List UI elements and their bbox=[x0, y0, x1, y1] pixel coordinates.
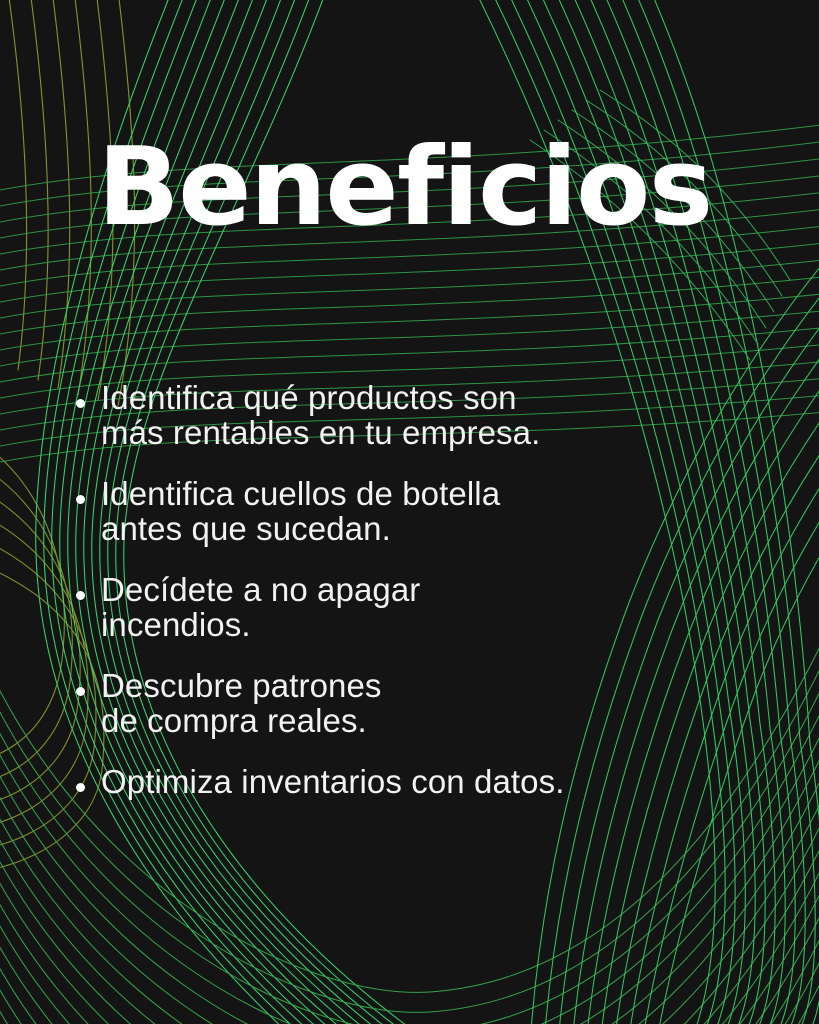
list-item-text: Descubre patrones de compra reales. bbox=[101, 668, 382, 738]
list-item-text: Identifica cuellos de botella antes que … bbox=[101, 476, 500, 546]
list-item: Identifica qué productos son más rentabl… bbox=[76, 380, 726, 450]
bullet-dot-icon bbox=[76, 783, 85, 792]
list-item: Descubre patrones de compra reales. bbox=[76, 668, 726, 738]
list-item-text: Identifica qué productos son más rentabl… bbox=[101, 380, 540, 450]
bullet-dot-icon bbox=[76, 687, 85, 696]
list-item-text: Optimiza inventarios con datos. bbox=[101, 764, 565, 799]
bullet-dot-icon bbox=[76, 495, 85, 504]
bullet-dot-icon bbox=[76, 399, 85, 408]
benefits-list: Identifica qué productos son más rentabl… bbox=[76, 380, 726, 825]
bullet-dot-icon bbox=[76, 591, 85, 600]
page-title: Beneficios bbox=[0, 131, 819, 245]
list-item: Decídete a no apagar incendios. bbox=[76, 572, 726, 642]
list-item-text: Decídete a no apagar incendios. bbox=[101, 572, 420, 642]
list-item: Optimiza inventarios con datos. bbox=[76, 764, 726, 799]
list-item: Identifica cuellos de botella antes que … bbox=[76, 476, 726, 546]
slide-canvas: Beneficios Identifica qué productos son … bbox=[0, 0, 819, 1024]
